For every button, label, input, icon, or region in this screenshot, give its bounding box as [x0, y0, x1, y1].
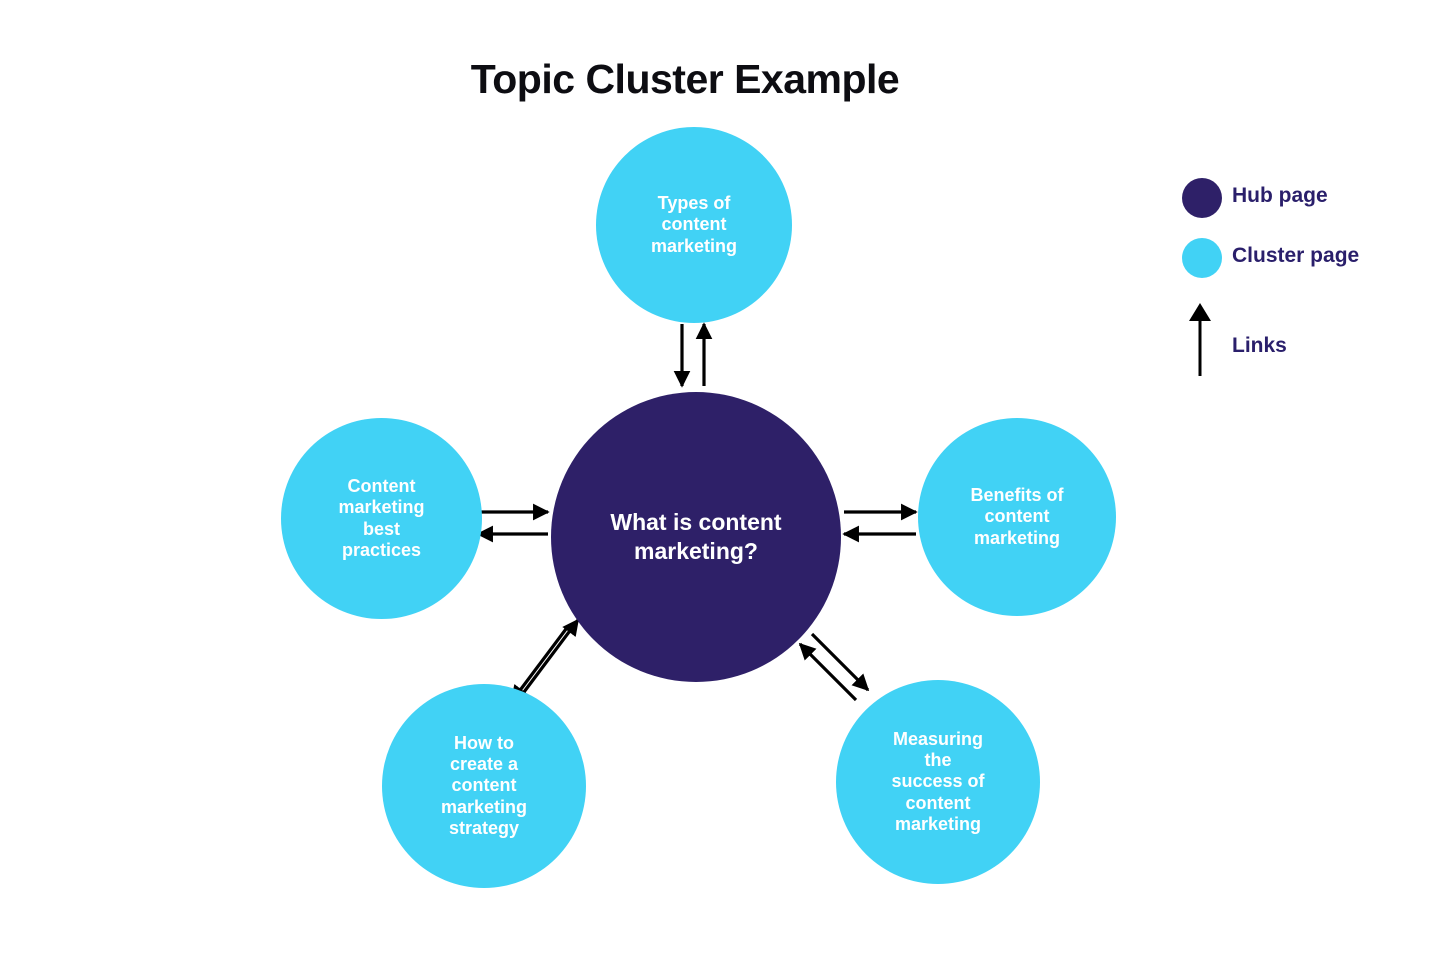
link-hub-types: [682, 324, 704, 386]
node-cluster-best-practices[interactable]: Content marketing best practices: [281, 418, 482, 619]
node-cluster-label: Content marketing best practices: [332, 476, 430, 561]
node-hub-label: What is content marketing?: [551, 508, 841, 566]
node-cluster-benefits[interactable]: Benefits of content marketing: [918, 418, 1116, 616]
link-hub-benefits: [844, 512, 916, 534]
node-cluster-types[interactable]: Types of content marketing: [596, 127, 792, 323]
node-cluster-measuring[interactable]: Measuring the success of content marketi…: [836, 680, 1040, 884]
node-hub-page[interactable]: What is content marketing?: [551, 392, 841, 682]
topic-cluster-diagram: What is content marketing? Types of cont…: [0, 0, 1452, 956]
node-cluster-label: How to create a content marketing strate…: [435, 733, 533, 839]
node-cluster-label: Benefits of content marketing: [964, 485, 1069, 549]
node-cluster-label: Measuring the success of content marketi…: [885, 729, 990, 835]
link-hub-measuring: [800, 634, 868, 700]
node-cluster-strategy[interactable]: How to create a content marketing strate…: [382, 684, 586, 888]
link-hub-strategy: [512, 620, 578, 701]
link-hub-best-practices: [478, 512, 548, 534]
node-cluster-label: Types of content marketing: [645, 193, 743, 257]
